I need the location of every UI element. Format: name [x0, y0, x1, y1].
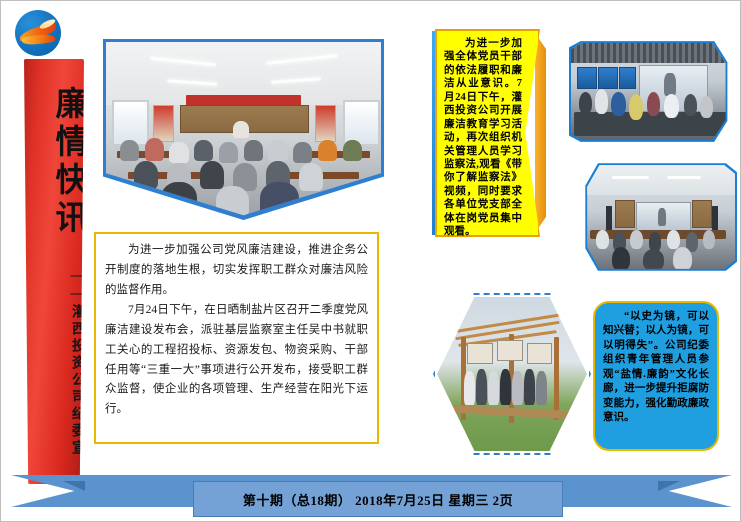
- wall-panel: [615, 200, 635, 228]
- attendee: [244, 140, 263, 161]
- ceiling-lamp: [612, 176, 649, 179]
- viewer: [629, 94, 643, 120]
- viewer: [611, 92, 625, 116]
- attendee: [169, 142, 188, 163]
- hall-ceiling: [581, 163, 735, 195]
- wall-display: [577, 67, 597, 89]
- viewer-foreground: [612, 247, 630, 271]
- viewer: [703, 230, 715, 249]
- viewer: [684, 94, 697, 116]
- wall-panel: [692, 200, 712, 228]
- attendee: [120, 140, 139, 161]
- photo-hall: [579, 161, 737, 273]
- photo-corridor-frame: [433, 293, 591, 455]
- screen-speaker-figure: [658, 208, 666, 225]
- masthead-subtitle: ——灌西投资公司纪委宣: [24, 255, 84, 470]
- ribbon-left-tail: [11, 475, 126, 507]
- photo-meeting-image: [106, 42, 381, 217]
- attendee: [200, 161, 225, 189]
- masthead-banner: 廉情快讯 ——灌西投资公司纪委宣: [24, 59, 84, 484]
- attendee: [145, 138, 164, 161]
- attendee: [343, 140, 362, 161]
- newsletter-page: 廉情快讯 ——灌西投资公司纪委宣: [0, 0, 741, 522]
- viewer: [700, 96, 713, 118]
- attendee: [268, 140, 287, 161]
- attendee-foreground: [161, 182, 197, 217]
- page-title: 廉情快讯: [24, 73, 84, 251]
- viewer: [595, 89, 608, 113]
- callout-right-tab: [535, 33, 546, 233]
- wall-poster: [315, 105, 336, 142]
- photo-classroom-image: [571, 41, 732, 142]
- article-box: 为进一步加强公司党风廉洁建设，推进企务公开制度的落地生根，切实发挥职工群众对廉洁…: [94, 232, 379, 444]
- attendee: [219, 142, 238, 163]
- ceiling-lamp: [667, 176, 701, 179]
- company-logo-icon: [9, 7, 67, 61]
- wall-poster: [153, 105, 174, 142]
- viewer: [630, 230, 642, 249]
- footer-plaque: 第十期（总18期） 2018年7月25日 星期三 2页: [193, 481, 563, 517]
- attendee-foreground: [260, 182, 299, 217]
- ceiling-grille: [571, 41, 732, 63]
- ribbon-right-tail: [617, 475, 732, 507]
- speaker-stack: [606, 206, 612, 230]
- viewer: [664, 94, 678, 118]
- article-paragraph: 7月24日下午，在日晒制盐片区召开二季度党风廉洁建设发布会，派驻基层监察室主任吴…: [105, 301, 368, 420]
- article-body: 为进一步加强公司党风廉洁建设，推进企务公开制度的落地生根，切实发挥职工群众对廉洁…: [96, 234, 377, 425]
- room-window: [343, 100, 380, 146]
- viewer: [647, 92, 660, 116]
- footer-text: 第十期（总18期） 2018年7月25日 星期三 2页: [243, 490, 513, 509]
- quote-text: “以史为镜，可以知兴替；以人为镜，可以明得失”。公司纪委组织青年管理人员参观“盐…: [595, 303, 717, 430]
- speaker-figure: [233, 121, 250, 139]
- article-paragraph: 为进一步加强公司党风廉洁建设，推进企务公开制度的落地生根，切实发挥职工群众对廉洁…: [105, 241, 368, 300]
- attendee-foreground: [216, 186, 249, 218]
- callout-yellow: 为进一步加强全体党员干部的依法履职和廉洁从业意识。7月24日下午，灌西投资公司开…: [435, 29, 540, 237]
- photo-meeting: [103, 39, 384, 220]
- attendee: [318, 140, 337, 161]
- wall-display: [619, 67, 635, 89]
- photo-hall-image: [581, 163, 735, 271]
- viewer: [596, 230, 608, 249]
- attendee: [293, 142, 312, 163]
- attendee: [134, 161, 159, 189]
- wall-display: [598, 67, 618, 89]
- photo-classroom: [569, 39, 734, 144]
- attendee: [194, 140, 213, 161]
- attendee: [299, 163, 324, 191]
- viewer-foreground: [673, 247, 691, 271]
- quote-box: “以史为镜，可以知兴替；以人为镜，可以明得失”。公司纪委组织青年管理人员参观“盐…: [593, 301, 719, 451]
- viewer: [579, 92, 592, 114]
- viewer: [667, 230, 679, 249]
- speaker-stack: [712, 206, 718, 230]
- footer-ribbon: 第十期（总18期） 2018年7月25日 星期三 2页: [11, 471, 732, 513]
- callout-yellow-text: 为进一步加强全体党员干部的依法履职和廉洁从业意识。7月24日下午，灌西投资公司开…: [437, 31, 538, 243]
- room-window: [112, 100, 149, 146]
- viewer-foreground: [643, 249, 665, 271]
- photo-corridor: [433, 293, 591, 455]
- screen-speaker-figure: [664, 73, 675, 95]
